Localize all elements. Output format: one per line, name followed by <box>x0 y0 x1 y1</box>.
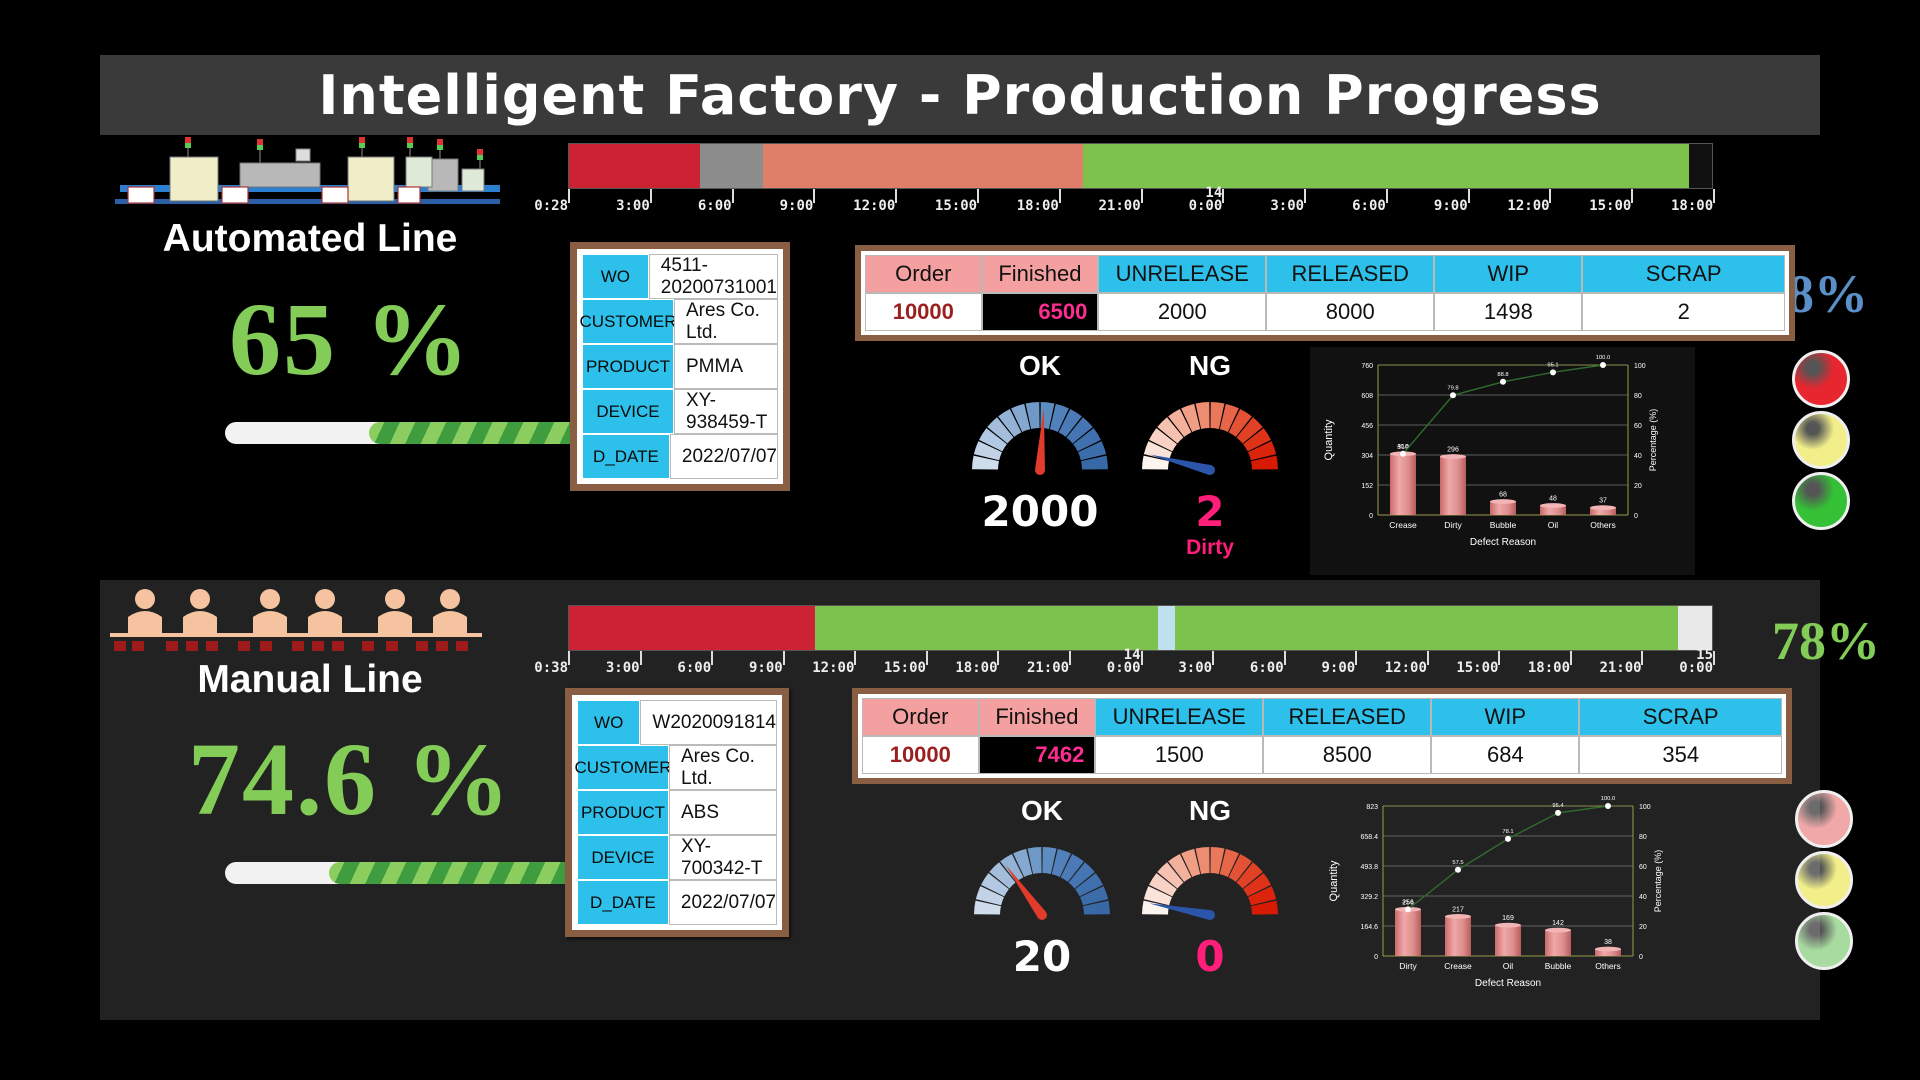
cell-released: 8000 <box>1266 293 1434 331</box>
tick-mark <box>640 651 642 665</box>
tick-label: 3:00 <box>608 200 650 213</box>
table-row: PRODUCTABS <box>577 790 777 835</box>
gauge-dial <box>1130 827 1290 932</box>
tick-label: 9:00 <box>1313 662 1355 675</box>
svg-text:304: 304 <box>1361 453 1373 460</box>
timeline-segment-down <box>569 144 700 188</box>
svg-text:658.4: 658.4 <box>1360 834 1378 841</box>
cell-order: 10000 <box>865 293 982 331</box>
svg-text:823: 823 <box>1366 804 1378 811</box>
wo-field-label: WO <box>582 254 649 299</box>
tick-label: 12:00 <box>1507 200 1549 213</box>
svg-text:57.5: 57.5 <box>1452 860 1463 866</box>
manual-line-panel: Manual Line 74.6 % 0:383:006:009:0012:00… <box>100 580 1820 1020</box>
svg-text:Crease: Crease <box>1444 961 1472 971</box>
table-row: 1000065002000800014982 <box>865 293 1785 331</box>
svg-text:95.4: 95.4 <box>1552 803 1564 809</box>
page-title: Intelligent Factory - Production Progres… <box>318 64 1601 127</box>
tick-mark <box>568 651 570 665</box>
table-header-row: OrderFinishedUNRELEASERELEASEDWIPSCRAP <box>862 698 1782 736</box>
manual-line-label: Manual Line <box>120 658 500 702</box>
svg-text:164.6: 164.6 <box>1360 924 1378 931</box>
tick-mark <box>1549 189 1551 203</box>
table-row: WOW2020091814 <box>577 700 777 745</box>
wo-field-value: 2022/07/07 <box>670 434 778 479</box>
svg-text:Defect Reason: Defect Reason <box>1470 537 1536 548</box>
green-lamp[interactable] <box>1792 472 1850 530</box>
cell-released: 8500 <box>1263 736 1431 774</box>
svg-text:78.1: 78.1 <box>1502 829 1513 835</box>
svg-text:Others: Others <box>1590 520 1616 530</box>
automated-pareto-chart: 0152304456608760020406080100 310Crease29… <box>1310 347 1695 575</box>
pareto-svg: 0152304456608760020406080100 310Crease29… <box>1310 347 1695 575</box>
timeline-segment-running <box>1083 144 1689 188</box>
column-header-scrap: SCRAP <box>1579 698 1782 736</box>
svg-text:Crease: Crease <box>1389 520 1417 530</box>
gauge-svg <box>1130 827 1290 927</box>
pareto-svg: 0164.6329.2493.8658.4823020406080100 256… <box>1315 788 1700 1016</box>
tick-label: 3:00 <box>1262 200 1304 213</box>
automated-line-progress-percent: 65 % <box>115 280 585 399</box>
tick-label: 14 0:00 <box>1099 649 1141 675</box>
svg-text:20: 20 <box>1634 483 1642 490</box>
tick-label: 6:00 <box>1344 200 1386 213</box>
wo-field-label: PRODUCT <box>582 344 674 389</box>
column-header-unrelease: UNRELEASE <box>1098 255 1266 293</box>
tick-label: 12:00 <box>853 200 895 213</box>
dashboard-title-bar: Intelligent Factory - Production Progres… <box>100 55 1820 135</box>
tick-label: 6:00 <box>669 662 711 675</box>
svg-text:20: 20 <box>1639 924 1647 931</box>
wo-field-value: 2022/07/07 <box>669 880 777 925</box>
wo-field-label: DEVICE <box>577 835 669 880</box>
manual-ng-gauge: NG 0 <box>1130 795 1290 981</box>
svg-text:Percentage (%): Percentage (%) <box>1648 409 1658 472</box>
wo-field-label: D_DATE <box>577 880 669 925</box>
svg-text:Defect Reason: Defect Reason <box>1475 978 1541 989</box>
tick-label: 3:00 <box>598 662 640 675</box>
tick-mark <box>1304 189 1306 203</box>
timeline-bar[interactable] <box>568 605 1713 651</box>
tick-mark <box>1284 651 1286 665</box>
dashboard-root: Intelligent Factory - Production Progres… <box>0 0 1920 1080</box>
svg-text:608: 608 <box>1361 393 1373 400</box>
wo-field-value: PMMA <box>674 344 778 389</box>
wo-field-value: W2020091814 <box>640 700 777 745</box>
svg-text:217: 217 <box>1452 906 1464 913</box>
svg-text:100: 100 <box>1639 804 1651 811</box>
svg-text:80: 80 <box>1639 834 1647 841</box>
tick-mark <box>732 189 734 203</box>
column-header-unrelease: UNRELEASE <box>1095 698 1263 736</box>
green-lamp[interactable] <box>1795 912 1853 970</box>
tick-mark <box>997 651 999 665</box>
wo-field-value: Ares Co. Ltd. <box>674 299 778 344</box>
red-lamp[interactable] <box>1795 790 1853 848</box>
cell-finished: 6500 <box>982 293 1099 331</box>
manual-order-table: OrderFinishedUNRELEASERELEASEDWIPSCRAP10… <box>852 688 1792 784</box>
wo-field-label: CUSTOMER <box>577 745 669 790</box>
tick-label: 15 0:00 <box>1671 649 1713 675</box>
tick-label: 18:00 <box>1671 200 1713 213</box>
tick-label: 9:00 <box>741 662 783 675</box>
svg-text:80: 80 <box>1634 393 1642 400</box>
tick-mark <box>1212 651 1214 665</box>
svg-text:0: 0 <box>1374 954 1378 961</box>
timeline-segment-pause <box>1158 606 1175 650</box>
svg-text:0: 0 <box>1369 513 1373 520</box>
automated-ok-gauge: OK 2000 <box>960 350 1120 536</box>
svg-text:Quantity: Quantity <box>1328 860 1340 901</box>
gauge-dial <box>1130 382 1290 487</box>
manual-wo-table: WOW2020091814CUSTOMERAres Co. Ltd.PRODUC… <box>565 688 789 937</box>
automated-line-timeline: 0:283:006:009:0012:0015:0018:0021:0014 0… <box>568 143 1713 227</box>
wo-field-value: ABS <box>669 790 777 835</box>
tick-label: 21:00 <box>1027 662 1069 675</box>
tick-mark <box>1355 651 1357 665</box>
wo-field-value: Ares Co. Ltd. <box>669 745 777 790</box>
automated-wo-table: WO4511-20200731001CUSTOMERAres Co. Ltd.P… <box>570 242 790 491</box>
manual-line-timeline: 0:383:006:009:0012:0015:0018:0021:0014 0… <box>568 605 1713 689</box>
tick-mark <box>895 189 897 203</box>
svg-text:296: 296 <box>1447 447 1459 454</box>
manual-pareto-chart: 0164.6329.2493.8658.4823020406080100 256… <box>1315 788 1700 1016</box>
tick-mark <box>1570 651 1572 665</box>
tick-label: 15:00 <box>884 662 926 675</box>
manual-line-utilization-percent: 78% <box>1772 610 1880 672</box>
gauge-svg <box>960 382 1120 482</box>
gauge-svg <box>962 827 1122 927</box>
tick-mark <box>1713 189 1715 203</box>
tick-label: 12:00 <box>1385 662 1427 675</box>
tick-mark <box>1069 651 1071 665</box>
tick-mark <box>650 189 652 203</box>
timeline-segment-down <box>569 606 815 650</box>
table-row: DEVICEXY-700342-T <box>577 835 777 880</box>
cell-scrap: 2 <box>1582 293 1785 331</box>
tick-label: 18:00 <box>1017 200 1059 213</box>
tick-mark <box>1141 189 1143 203</box>
svg-text:100.0: 100.0 <box>1601 796 1616 802</box>
table-row: D_DATE2022/07/07 <box>582 434 778 479</box>
table-row: WO4511-20200731001 <box>582 254 778 299</box>
table-row: D_DATE2022/07/07 <box>577 880 777 925</box>
svg-text:0: 0 <box>1639 954 1643 961</box>
wo-field-label: WO <box>577 700 640 745</box>
tick-label: 18:00 <box>1528 662 1570 675</box>
svg-text:456: 456 <box>1361 423 1373 430</box>
svg-text:68: 68 <box>1499 492 1507 499</box>
wo-field-value: XY-700342-T <box>669 835 777 880</box>
svg-text:60: 60 <box>1639 864 1647 871</box>
table-row: 10000746215008500684354 <box>862 736 1782 774</box>
column-header-wip: WIP <box>1431 698 1579 736</box>
workers-bench-icon <box>110 585 490 655</box>
gauge-value: 2 <box>1130 487 1290 536</box>
svg-text:169: 169 <box>1502 915 1514 922</box>
cell-scrap: 354 <box>1579 736 1782 774</box>
automated-order-table: OrderFinishedUNRELEASERELEASEDWIPSCRAP10… <box>855 245 1795 341</box>
svg-text:Others: Others <box>1595 961 1621 971</box>
timeline-ticks: 0:383:006:009:0012:0015:0018:0021:0014 0… <box>568 651 1713 689</box>
tick-mark <box>1641 651 1643 665</box>
tick-mark <box>1713 651 1715 665</box>
svg-text:Bubble: Bubble <box>1490 520 1517 530</box>
wo-field-label: D_DATE <box>582 434 670 479</box>
timeline-ticks: 0:283:006:009:0012:0015:0018:0021:0014 0… <box>568 189 1713 227</box>
column-header-order: Order <box>862 698 979 736</box>
tick-label: 14 0:00 <box>1180 187 1222 213</box>
yellow-lamp[interactable] <box>1792 411 1850 469</box>
gauge-title: NG <box>1130 350 1290 382</box>
tick-mark <box>1468 189 1470 203</box>
tick-mark <box>854 651 856 665</box>
gauge-title: OK <box>962 795 1122 827</box>
cell-order: 10000 <box>862 736 979 774</box>
tick-mark <box>1631 189 1633 203</box>
svg-text:100.0: 100.0 <box>1596 355 1611 361</box>
svg-text:Oil: Oil <box>1503 961 1514 971</box>
tick-label: 6:00 <box>1242 662 1284 675</box>
tick-label: 15:00 <box>1589 200 1631 213</box>
svg-text:37: 37 <box>1599 498 1607 505</box>
tick-label: 6:00 <box>690 200 732 213</box>
tick-mark <box>568 189 570 203</box>
gauge-subtitle: Dirty <box>1130 536 1290 560</box>
svg-text:31.1: 31.1 <box>1402 899 1413 905</box>
svg-text:152: 152 <box>1361 483 1373 490</box>
svg-text:38: 38 <box>1604 939 1612 946</box>
red-lamp[interactable] <box>1792 350 1850 408</box>
timeline-segment-running <box>815 606 1158 650</box>
tick-label: 3:00 <box>1170 662 1212 675</box>
tick-mark <box>926 651 928 665</box>
svg-text:142: 142 <box>1552 920 1564 927</box>
timeline-segment-idle <box>1678 606 1712 650</box>
timeline-bar[interactable] <box>568 143 1713 189</box>
svg-text:0: 0 <box>1634 513 1638 520</box>
gauge-value: 0 <box>1130 932 1290 981</box>
tick-mark <box>1498 651 1500 665</box>
cell-finished: 7462 <box>979 736 1096 774</box>
column-header-released: RELEASED <box>1266 255 1434 293</box>
wo-field-value: XY-938459-T <box>674 389 778 434</box>
gauge-dial <box>962 827 1122 932</box>
tick-mark <box>1427 651 1429 665</box>
tick-label: 9:00 <box>771 200 813 213</box>
tick-label: 0:28 <box>526 200 568 213</box>
tick-mark <box>977 189 979 203</box>
wo-field-value: 4511-20200731001 <box>649 254 778 299</box>
cell-unrelease: 2000 <box>1098 293 1266 331</box>
svg-text:760: 760 <box>1361 363 1373 370</box>
svg-text:Dirty: Dirty <box>1399 961 1417 971</box>
factory-equipment-icon <box>110 135 510 215</box>
svg-text:79.8: 79.8 <box>1447 385 1458 391</box>
timeline-segment-idle <box>700 144 763 188</box>
table-row: CUSTOMERAres Co. Ltd. <box>582 299 778 344</box>
svg-text:Quantity: Quantity <box>1323 419 1335 460</box>
svg-text:95.1: 95.1 <box>1547 362 1558 368</box>
tick-label: 15:00 <box>935 200 977 213</box>
svg-text:40: 40 <box>1639 894 1647 901</box>
tick-label: 0:38 <box>526 662 568 675</box>
tick-mark <box>783 651 785 665</box>
svg-text:40.8: 40.8 <box>1397 444 1408 450</box>
svg-text:100: 100 <box>1634 363 1646 370</box>
svg-text:493.8: 493.8 <box>1360 864 1378 871</box>
cell-unrelease: 1500 <box>1095 736 1263 774</box>
svg-text:60: 60 <box>1634 423 1642 430</box>
tick-label: 15:00 <box>1456 662 1498 675</box>
timeline-segment-warning <box>763 144 1083 188</box>
manual-ok-gauge: OK 20 <box>962 795 1122 981</box>
svg-text:88.8: 88.8 <box>1497 372 1508 378</box>
column-header-finished: Finished <box>979 698 1096 736</box>
table-row: CUSTOMERAres Co. Ltd. <box>577 745 777 790</box>
tick-label: 9:00 <box>1426 200 1468 213</box>
tick-mark <box>1141 651 1143 665</box>
tick-mark <box>711 651 713 665</box>
table-row: PRODUCTPMMA <box>582 344 778 389</box>
tick-mark <box>1222 189 1224 203</box>
cell-wip: 684 <box>1431 736 1579 774</box>
wo-field-label: CUSTOMER <box>582 299 674 344</box>
column-header-wip: WIP <box>1434 255 1582 293</box>
tick-mark <box>1386 189 1388 203</box>
yellow-lamp[interactable] <box>1795 851 1853 909</box>
manual-line-progress-percent: 74.6 % <box>115 720 585 839</box>
table-header-row: OrderFinishedUNRELEASERELEASEDWIPSCRAP <box>865 255 1785 293</box>
table-row: DEVICEXY-938459-T <box>582 389 778 434</box>
tick-label: 12:00 <box>812 662 854 675</box>
column-header-finished: Finished <box>982 255 1099 293</box>
svg-text:Bubble: Bubble <box>1545 961 1572 971</box>
tick-label: 21:00 <box>1599 662 1641 675</box>
column-header-released: RELEASED <box>1263 698 1431 736</box>
svg-text:Percentage (%): Percentage (%) <box>1653 850 1663 913</box>
gauge-svg <box>1130 382 1290 482</box>
wo-field-label: DEVICE <box>582 389 674 434</box>
gauge-value: 2000 <box>960 487 1120 536</box>
svg-text:Dirty: Dirty <box>1444 520 1462 530</box>
tick-mark <box>1059 189 1061 203</box>
svg-text:Oil: Oil <box>1548 520 1559 530</box>
cell-wip: 1498 <box>1434 293 1582 331</box>
svg-text:329.2: 329.2 <box>1360 894 1378 901</box>
gauge-title: NG <box>1130 795 1290 827</box>
gauge-value: 20 <box>962 932 1122 981</box>
automated-ng-gauge: NG 2 Dirty <box>1130 350 1290 560</box>
svg-text:48: 48 <box>1549 496 1557 503</box>
tick-label: 21:00 <box>1099 200 1141 213</box>
automated-line-label: Automated Line <box>120 217 500 261</box>
svg-text:40: 40 <box>1634 453 1642 460</box>
automated-line-panel: Automated Line 65 % 0:283:006:009:0012:0… <box>100 135 1820 570</box>
tick-mark <box>813 189 815 203</box>
timeline-segment-running2 <box>1175 606 1678 650</box>
column-header-scrap: SCRAP <box>1582 255 1785 293</box>
gauge-dial <box>960 382 1120 487</box>
wo-field-label: PRODUCT <box>577 790 669 835</box>
column-header-order: Order <box>865 255 982 293</box>
tick-label: 18:00 <box>955 662 997 675</box>
gauge-title: OK <box>960 350 1120 382</box>
